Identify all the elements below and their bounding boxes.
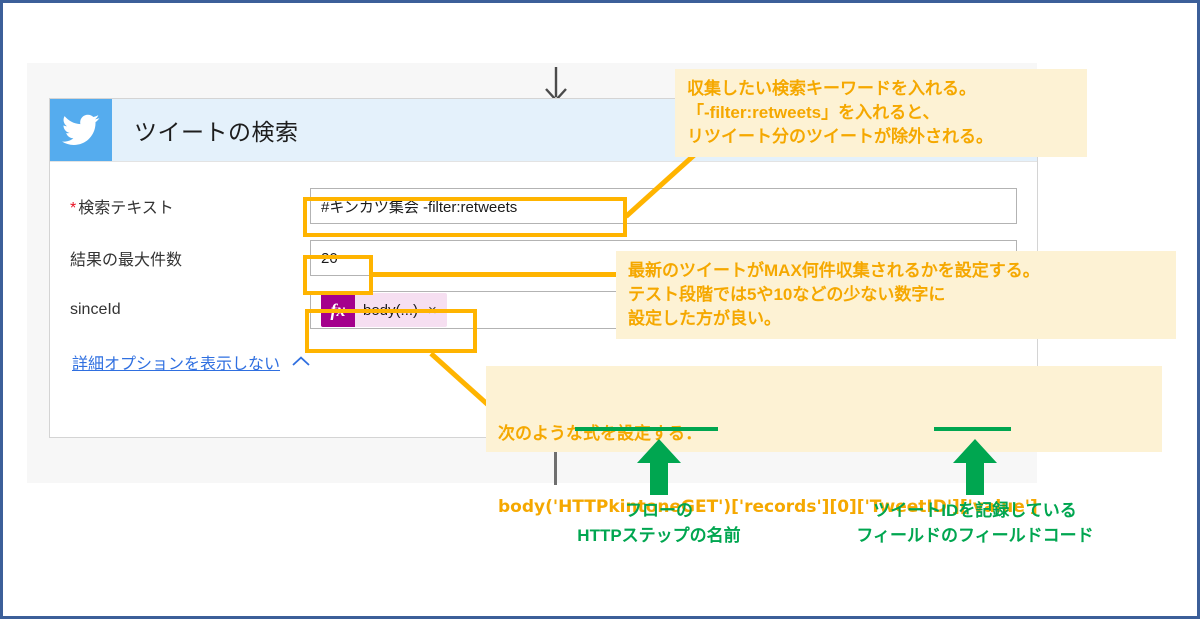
green-up-arrow-right-icon [953,439,997,495]
field-label-search-text: *検索テキスト [70,194,310,218]
green-caption-field-code: ツイートIDを記録している フィールドのフィールドコード [850,499,1100,548]
card-title: ツイートの検索 [134,113,299,147]
green-caption-http-step: フローの HTTPステップの名前 [559,499,759,548]
toggle-advanced-options-label: 詳細オプションを表示しない [72,350,280,374]
underline-field-code [934,427,1011,431]
screenshot-frame: ツイートの検索 *検索テキスト #キンカツ集会 -filter:retweets… [0,0,1200,619]
field-label-max-results: 結果の最大件数 [70,246,310,270]
required-asterisk: * [70,200,76,217]
leader-line-max-results [371,272,619,277]
fx-icon: fx [321,293,355,327]
green-up-arrow-left-icon [637,439,681,495]
annotation-expression-line1: 次のような式を設定する： [498,422,1150,446]
expression-token-label: body(...) [355,302,426,319]
search-text-input[interactable]: #キンカツ集会 -filter:retweets [310,188,1017,224]
toggle-advanced-options-link[interactable]: 詳細オプションを表示しない [72,350,310,374]
annotation-max-results: 最新のツイートがMAX何件収集されるかを設定する。 テスト段階では5や10などの… [616,251,1176,339]
field-label-since-id: sinceId [70,301,310,319]
max-results-value: 20 [321,250,338,267]
annotation-expression: 次のような式を設定する： body('HTTPkintoneGET')['rec… [486,366,1162,452]
flow-down-arrow-icon [541,67,571,101]
underline-http-step-name [575,427,718,431]
close-icon[interactable]: × [426,302,447,319]
search-text-value: #キンカツ集会 -filter:retweets [321,196,517,217]
chevron-up-icon [292,354,310,371]
expression-token[interactable]: fx body(...) × [321,293,447,327]
annotation-search-text: 収集したい検索キーワードを入れる。 「-filter:retweets」を入れる… [675,69,1087,157]
field-row-search-text: *検索テキスト #キンカツ集会 -filter:retweets [70,180,1017,232]
twitter-bird-icon [50,99,112,161]
